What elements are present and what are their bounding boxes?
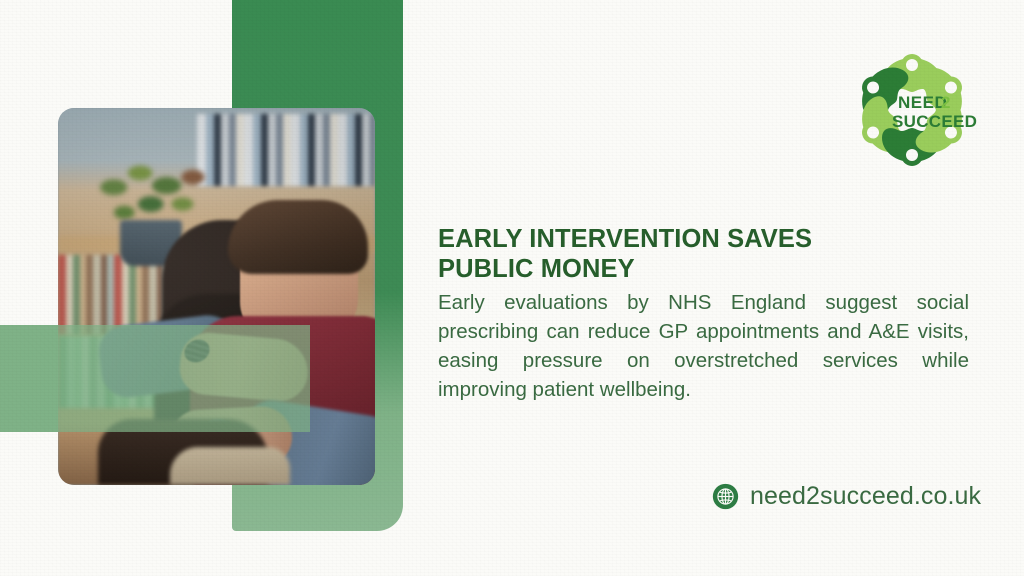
text-column: EARLY INTERVENTION SAVES PUBLIC MONEY Ea…	[438, 224, 969, 404]
need-2-succeed-logo: NEED 2 SUCCEED	[838, 48, 986, 172]
body-paragraph: Early evaluations by NHS England suggest…	[438, 288, 969, 404]
photo-vignette	[58, 108, 375, 485]
logo-text-need: NEED	[898, 93, 947, 112]
logo-text-digit: 2	[941, 93, 950, 112]
globe-icon	[712, 483, 739, 510]
slide-canvas: NEED 2 SUCCEED EARLY INTERVENTION SAVES …	[0, 0, 1024, 576]
website-url[interactable]: need2succeed.co.uk	[750, 482, 981, 511]
website-footer[interactable]: need2succeed.co.uk	[712, 482, 981, 511]
logo-text-succeed: SUCCEED	[892, 112, 977, 131]
photo-inner	[58, 108, 375, 485]
hug-photo	[58, 108, 375, 485]
page-title: EARLY INTERVENTION SAVES PUBLIC MONEY	[438, 224, 969, 284]
